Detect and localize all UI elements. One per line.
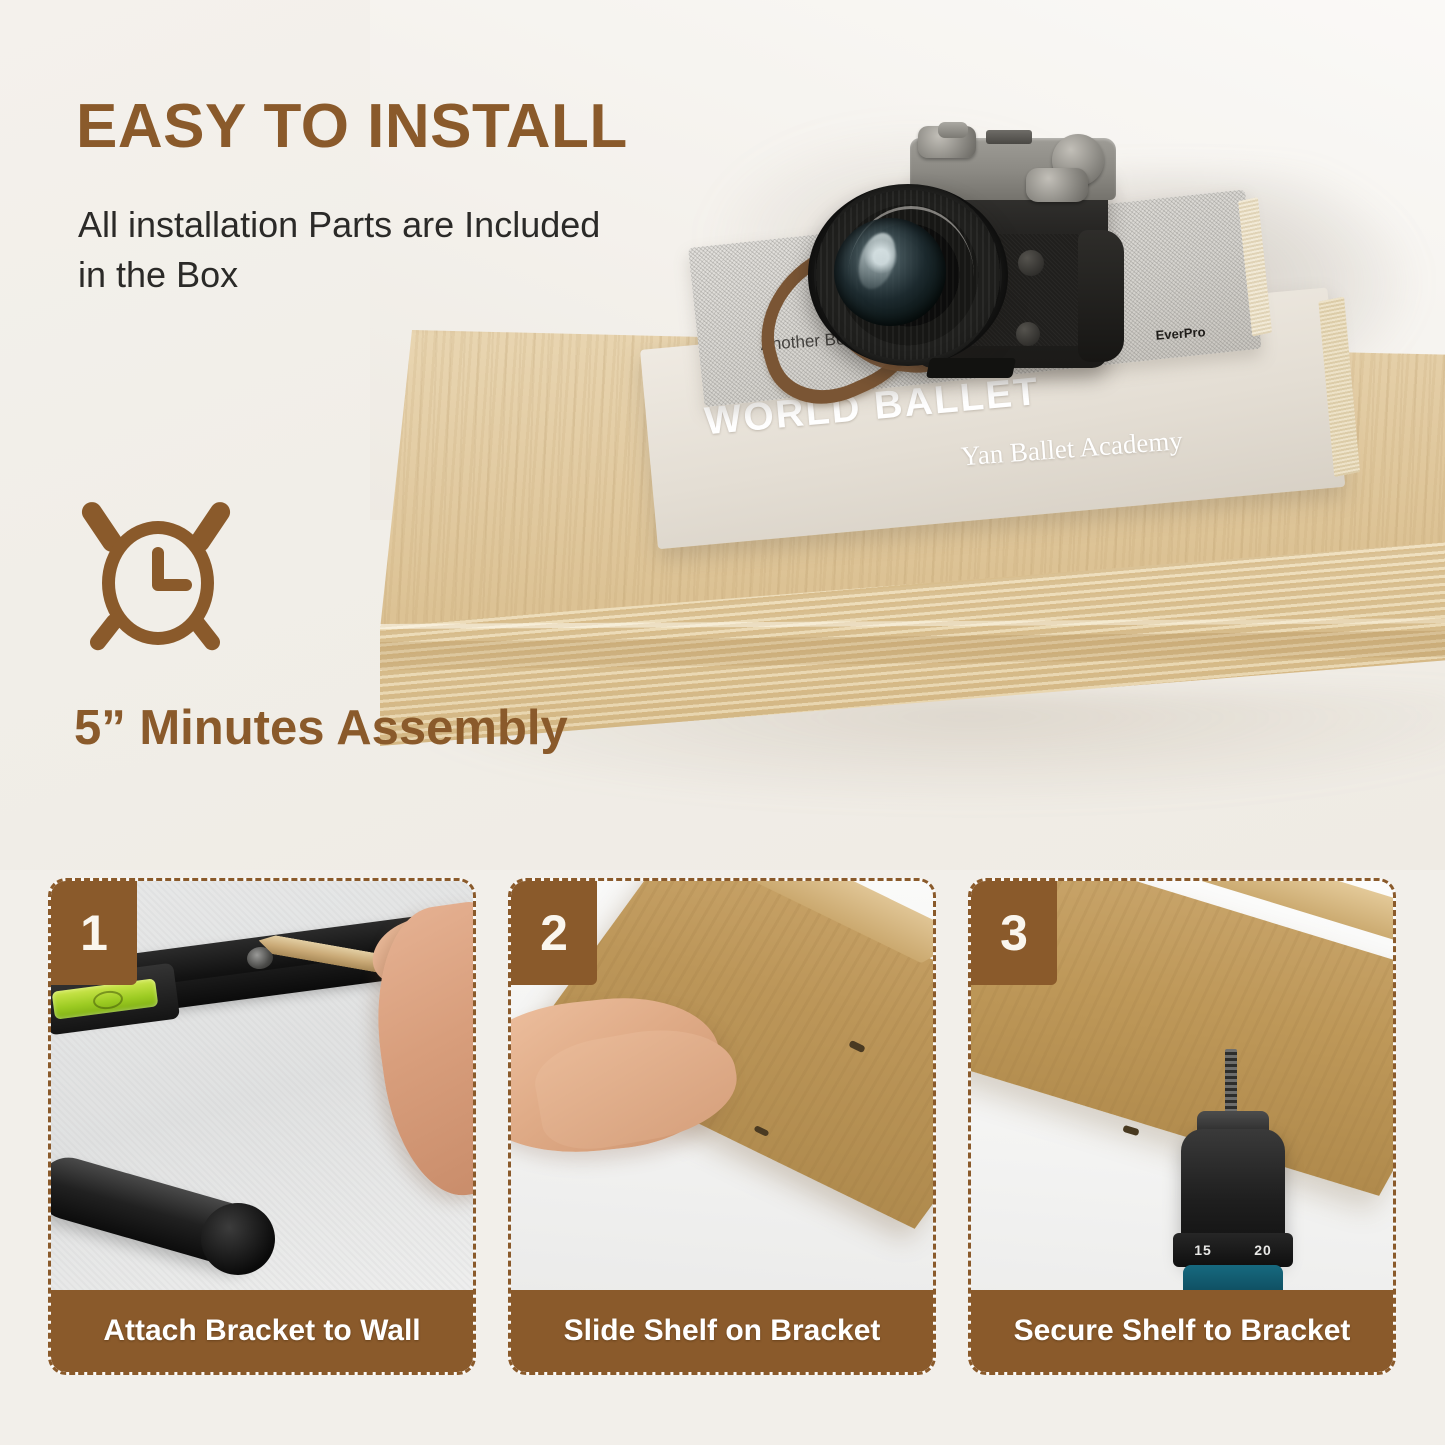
alarm-clock-icon: [78, 495, 248, 660]
assembly-time-label: 5” Minutes Assembly: [74, 700, 568, 756]
camera-hand-grip: [1078, 230, 1124, 362]
subtitle: All installation Parts are Included in t…: [78, 200, 638, 299]
camera-button-bottom: [1016, 322, 1040, 346]
hero-section: WORLD BALLET Yan Ballet Academy Another …: [0, 0, 1445, 870]
step-3-caption: Secure Shelf to Bracket: [971, 1290, 1393, 1372]
camera-base-plate: [926, 358, 1016, 378]
step-panel-1: 1 Attach Bracket to Wall: [48, 878, 476, 1375]
step-panel-2: 2 Slide Shelf on Bracket: [508, 878, 936, 1375]
step-3-drill-torque-ring: 15 20: [1173, 1233, 1293, 1267]
step-1-caption: Attach Bracket to Wall: [51, 1290, 473, 1372]
steps-section: 1 Attach Bracket to Wall 2 Slide Shelf o…: [0, 878, 1445, 1418]
step-1-number-badge: 1: [51, 881, 137, 985]
page-title: EASY TO INSTALL: [76, 96, 628, 158]
camera: [790, 120, 1150, 390]
step-2-number-badge: 2: [511, 881, 597, 985]
camera-shutter-button: [938, 122, 968, 138]
camera-dial-front: [1026, 168, 1088, 202]
drill-torque-mark-15: 15: [1194, 1242, 1212, 1258]
camera-hotshoe: [986, 130, 1032, 144]
alarm-clock-minute-hand-icon: [152, 579, 192, 591]
step-1-tool-tip: [201, 1203, 275, 1275]
camera-button-top: [1018, 250, 1044, 276]
step-2-caption: Slide Shelf on Bracket: [511, 1290, 933, 1372]
step-panel-3: 15 20 3 Secure Shelf to Bracket: [968, 878, 1396, 1375]
alarm-clock-foot-left-icon: [87, 611, 125, 654]
step-3-number-badge: 3: [971, 881, 1057, 985]
infographic-stage: WORLD BALLET Yan Ballet Academy Another …: [0, 0, 1445, 1445]
drill-torque-mark-20: 20: [1254, 1242, 1272, 1258]
